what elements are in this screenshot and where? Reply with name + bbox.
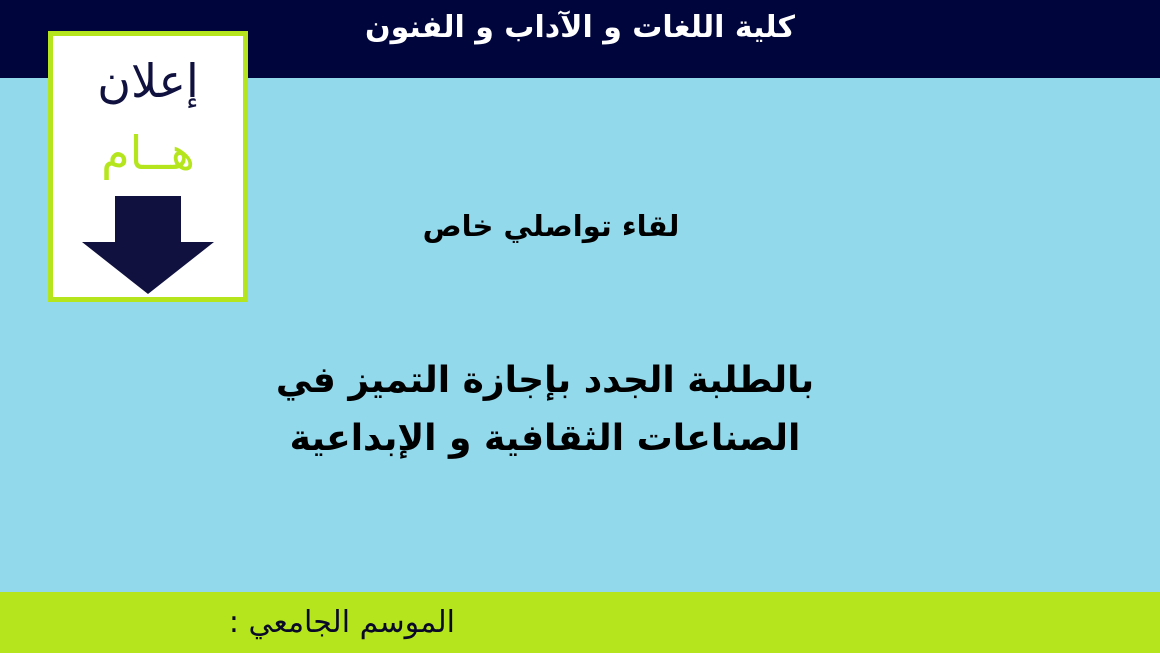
body-line-2: الصناعات الثقافية و الإبداعية [0, 410, 1090, 468]
body-text: بالطلبة الجدد بإجازة التميز في الصناعات … [0, 352, 1090, 468]
headline-text: لقاء تواصلي خاص [0, 203, 1102, 249]
badge-label-announcement: إعلان [53, 46, 243, 116]
body-line-1: بالطلبة الجدد بإجازة التميز في [0, 352, 1090, 410]
academic-year-label: الموسم الجامعي : [229, 596, 455, 650]
announcement-poster: كلية اللغات و الآداب و الفنون إعلان هــا… [0, 0, 1160, 653]
footer-bar: الموسم الجامعي : [0, 592, 1160, 653]
announcement-badge: إعلان هــام [48, 31, 248, 302]
badge-label-important: هــام [53, 118, 243, 188]
